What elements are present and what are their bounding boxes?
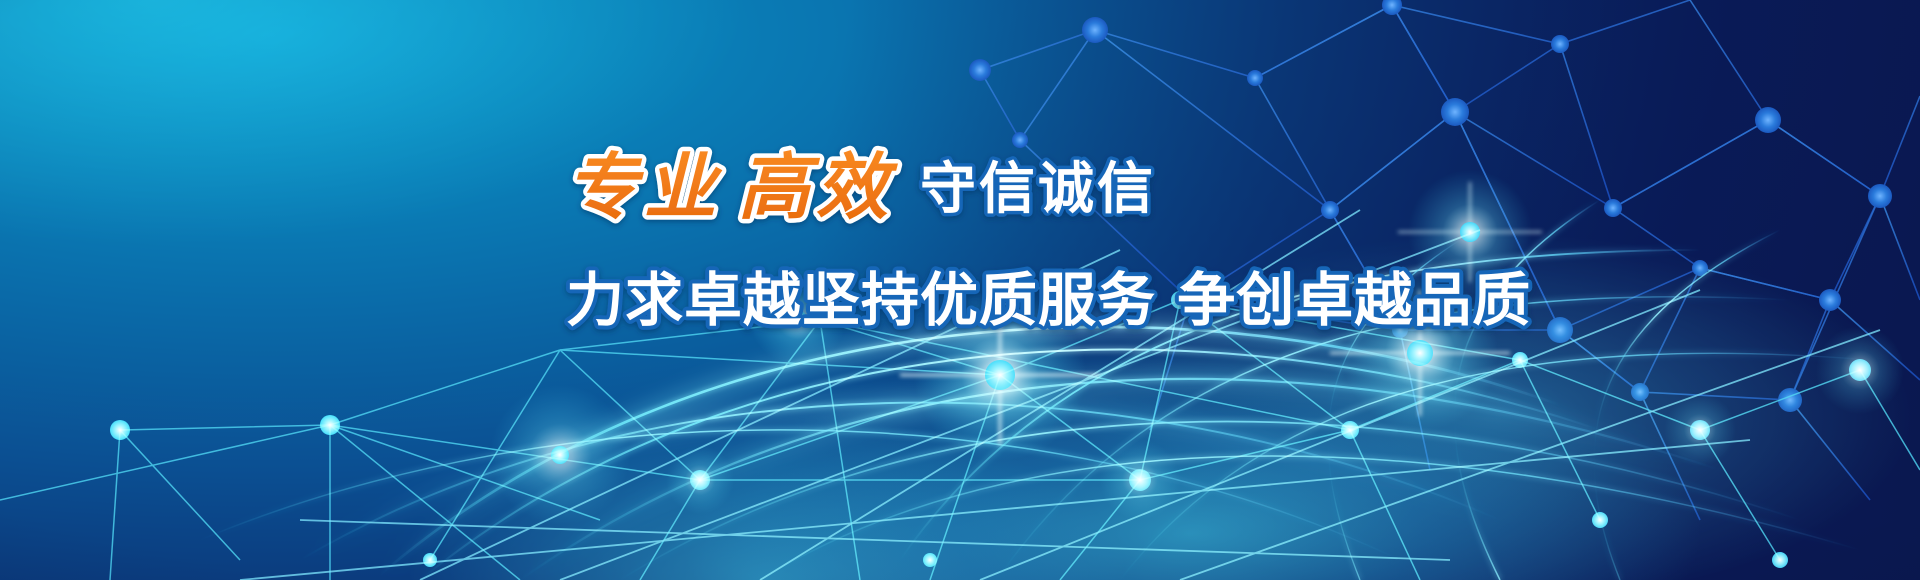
background-vignette	[0, 0, 1920, 580]
hero-banner: 专业 专业 高效 高效 守信诚信 守信诚信 力求卓越坚持优质服务 争创卓越品质 …	[0, 0, 1920, 580]
